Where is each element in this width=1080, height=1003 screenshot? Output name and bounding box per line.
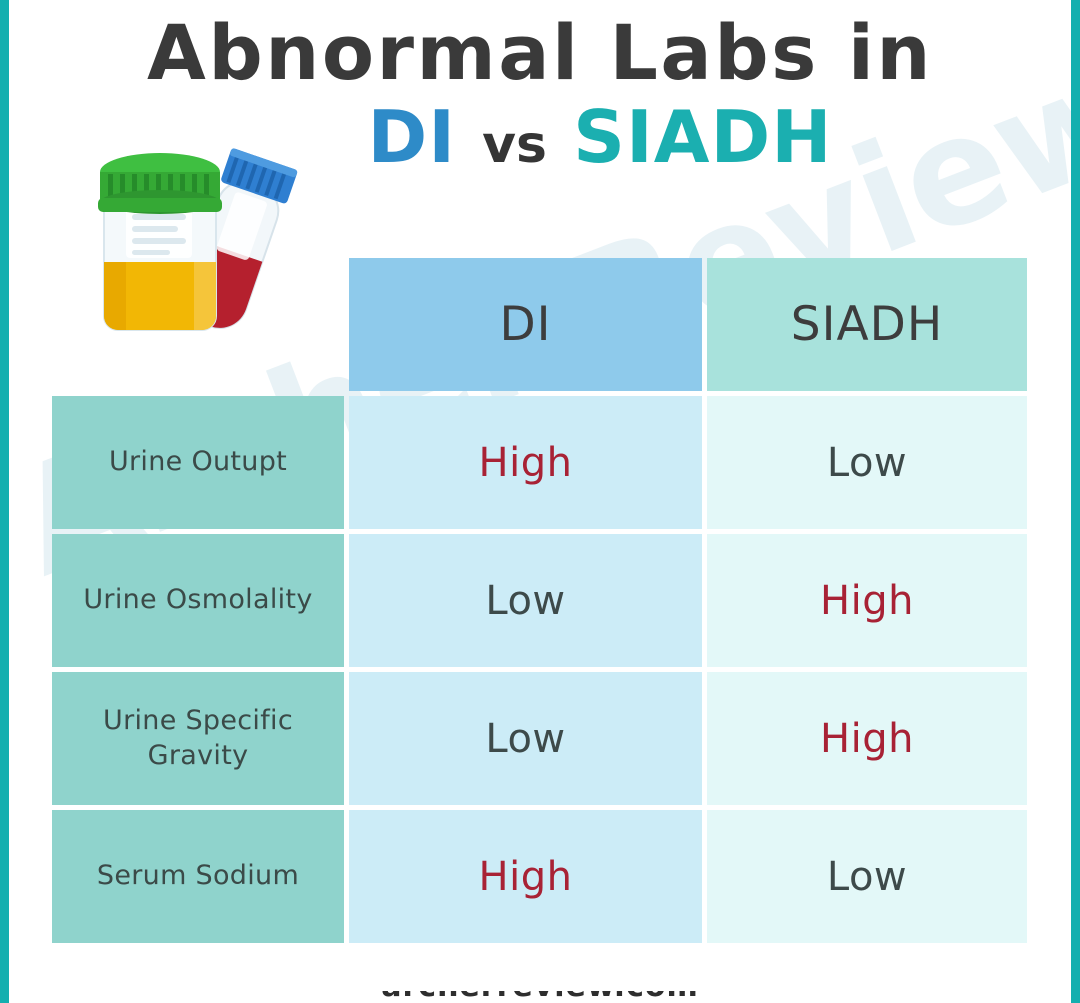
value-text: Low: [827, 854, 907, 900]
value-text: Low: [827, 440, 907, 486]
column-header-siadh: SIADH: [707, 258, 1027, 391]
value-text: Low: [485, 716, 565, 762]
table-row: Urine Specific Gravity Low High: [52, 672, 1027, 805]
column-header-di: DI: [349, 258, 702, 391]
value-text: Low: [485, 578, 565, 624]
urine-cup-and-blood-tube-icon: [84, 132, 300, 344]
table-row: Urine Outupt High Low: [52, 396, 1027, 529]
cell-siadh-value: Low: [707, 396, 1027, 529]
row-label: Urine Outupt: [52, 396, 344, 529]
value-text: High: [820, 578, 914, 624]
cell-di-value: High: [349, 396, 702, 529]
cell-di-value: Low: [349, 672, 702, 805]
frame-border-right: [1071, 0, 1080, 1003]
cell-di-value: High: [349, 810, 702, 943]
value-text: High: [479, 854, 573, 900]
row-label: Urine Specific Gravity: [52, 672, 344, 805]
cell-siadh-value: High: [707, 534, 1027, 667]
footer-url: archerreview.com: [0, 991, 1080, 1003]
cell-di-value: Low: [349, 534, 702, 667]
cell-siadh-value: Low: [707, 810, 1027, 943]
value-text: High: [479, 440, 573, 486]
row-label: Serum Sodium: [52, 810, 344, 943]
subtitle-di: DI: [368, 95, 457, 179]
row-label: Urine Osmolality: [52, 534, 344, 667]
table-row: Serum Sodium High Low: [52, 810, 1027, 943]
value-text: High: [820, 716, 914, 762]
table-row: Urine Osmolality Low High: [52, 534, 1027, 667]
cell-siadh-value: High: [707, 672, 1027, 805]
subtitle-vs: vs: [482, 115, 547, 175]
comparison-table: DI SIADH Urine Outupt High Low Urine Osm…: [52, 258, 1027, 948]
subtitle-siadh: SIADH: [573, 95, 832, 179]
frame-border-left: [0, 0, 9, 1003]
page-title: Abnormal Labs in: [0, 0, 1080, 92]
footer-strip: archerreview.com: [0, 991, 1080, 1003]
